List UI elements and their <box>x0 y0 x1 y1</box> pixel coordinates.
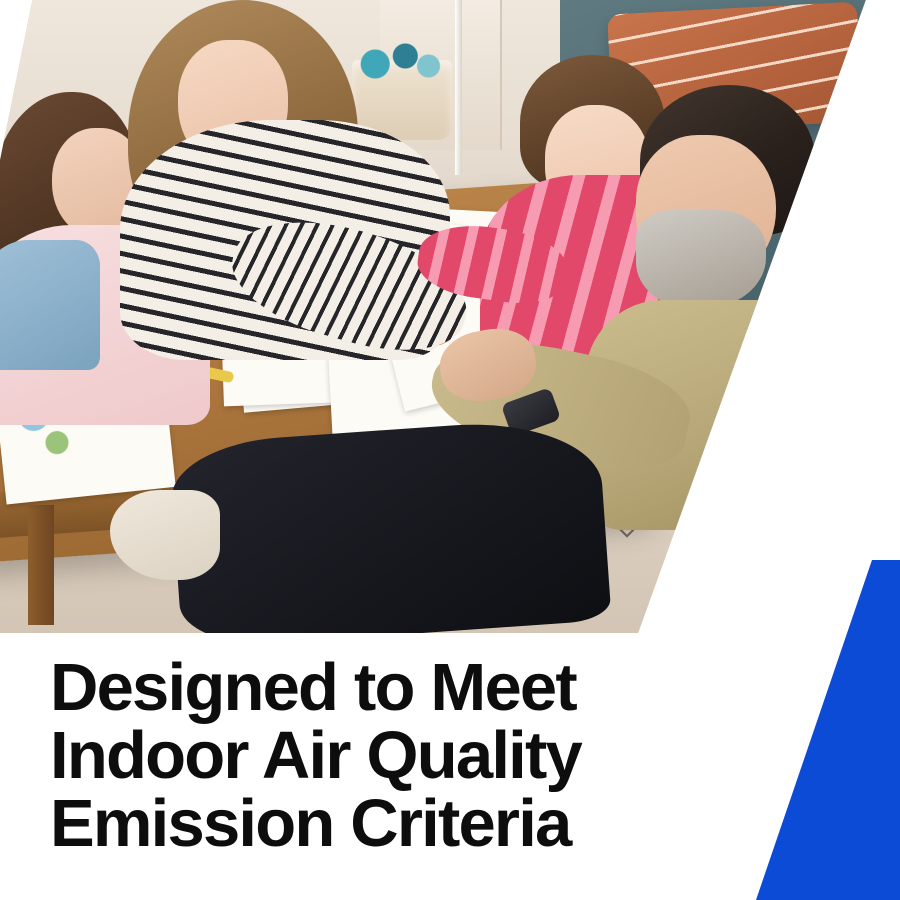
child-girl-overalls <box>0 240 100 370</box>
blue-accent-wedge <box>700 560 900 900</box>
basket-toys <box>358 40 444 80</box>
headline-line-3: Emission Criteria <box>50 790 650 858</box>
headline-line-2: Indoor Air Quality <box>50 722 650 790</box>
headline-line-1: Designed to Meet <box>50 654 650 722</box>
man-jeans <box>168 415 611 633</box>
hero-photo <box>0 0 900 633</box>
hero-photo-frame <box>0 0 900 633</box>
product-marketing-poster: Designed to Meet Indoor Air Quality Emis… <box>0 0 900 900</box>
table-leg <box>28 505 54 625</box>
headline-block: Designed to Meet Indoor Air Quality Emis… <box>50 654 650 858</box>
lamp-pole <box>455 0 462 175</box>
